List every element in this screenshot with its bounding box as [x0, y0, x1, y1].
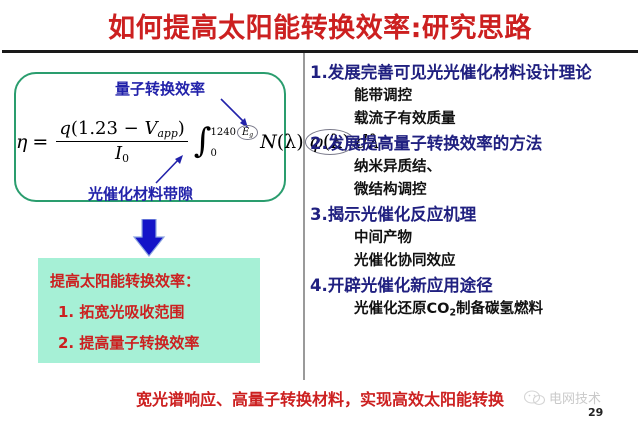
integral-upper-limit: 1240Eg [211, 125, 260, 141]
integral-symbol-icon: ∫ [194, 129, 212, 155]
research-outline-list: 1.发展完善可见光光催化材料设计理论 能带调控 载流子有效质量 2.发展提高量子… [310, 60, 636, 324]
outline-item-2-heading: 2.发展提高量子转换效率的方法 [310, 131, 636, 156]
outline-item-4-sub-1: 光催化还原CO2制备碳氢燃料 [310, 298, 636, 324]
formula-integral: ∫ 1240Eg 0 [194, 127, 259, 157]
arrow-to-eg-icon [150, 152, 190, 186]
outline-item-1-sub-2: 载流子有效质量 [310, 108, 636, 131]
label-quantum-efficiency: 量子转换效率 [115, 78, 205, 99]
green-box-item-1: 1. 拓宽光吸收范围 [50, 297, 260, 328]
watermark-label: 电网技术 [549, 388, 601, 407]
outline-item-3-sub-1: 中间产物 [310, 227, 636, 250]
slide-title-bar: 如何提高太阳能转换效率:研究思路 [0, 0, 640, 50]
formula-eta: η [16, 131, 27, 153]
title-underline-rule [2, 50, 638, 53]
outline-item-2-sub-1: 纳米异质结、 [310, 156, 636, 179]
outline-item-3-sub-2: 光催化协同效应 [310, 250, 636, 273]
outline-item-1-heading: 1.发展完善可见光光催化材料设计理论 [310, 60, 636, 85]
outline-item-4-heading: 4.开辟光催化新应用途径 [310, 273, 636, 298]
page-title: 如何提高太阳能转换效率:研究思路 [108, 6, 532, 45]
conclusion-green-box: 提高太阳能转换效率： 1. 拓宽光吸收范围 2. 提高量子转换效率 [38, 258, 260, 363]
page-number: 29 [588, 406, 603, 419]
integral-limits: 1240Eg 0 [211, 127, 260, 157]
bottom-banner-text: 宽光谱响应、高量子转换材料，实现高效太阳能转换 [136, 390, 504, 409]
outline-item-3-heading: 3.揭示光催化反应机理 [310, 202, 636, 227]
green-box-item-2: 2. 提高量子转换效率 [50, 328, 260, 359]
integral-lower-limit: 0 [211, 148, 260, 159]
outline-item-1-sub-1: 能带调控 [310, 85, 636, 108]
label-bandgap: 光催化材料带隙 [88, 183, 193, 204]
arrow-down-icon [131, 219, 167, 257]
green-box-heading: 提高太阳能转换效率： [50, 266, 260, 297]
formula-equals: = [32, 131, 48, 153]
formula-numerator: q(1.23 − Vapp) [56, 118, 187, 141]
watermark: 电网技术 [523, 388, 601, 407]
wechat-logo-icon [523, 389, 545, 406]
eg-circle-mark: Eg [237, 125, 258, 141]
outline-item-2-sub-2: 微结构调控 [310, 179, 636, 202]
column-divider [303, 53, 305, 380]
